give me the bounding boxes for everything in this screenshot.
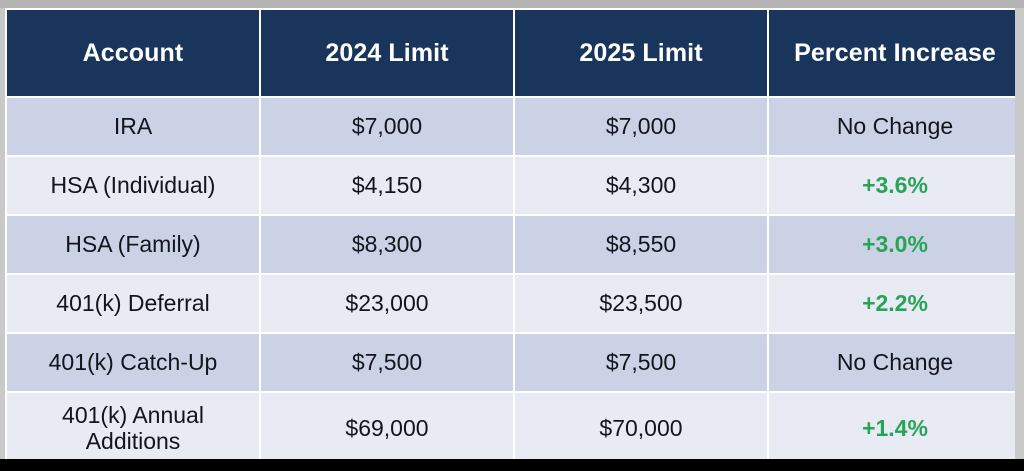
column-header-2025-limit: 2025 Limit [515, 10, 767, 96]
table-container: Account 2024 Limit 2025 Limit Percent In… [5, 8, 1015, 459]
bottom-frame-bar [0, 459, 1024, 471]
cell-2025-limit: $8,550 [515, 216, 767, 273]
cell-percent-increase: No Change [769, 98, 1015, 155]
cell-2024-limit: $4,150 [261, 157, 513, 214]
screenshot-canvas: Account 2024 Limit 2025 Limit Percent In… [0, 0, 1024, 471]
column-header-2024-limit: 2024 Limit [261, 10, 513, 96]
cell-percent-increase: +3.6% [769, 157, 1015, 214]
cell-percent-increase: +3.0% [769, 216, 1015, 273]
cell-percent-increase: +1.4% [769, 393, 1015, 459]
table-row: IRA $7,000 $7,000 No Change [7, 98, 1015, 155]
column-header-account: Account [7, 10, 259, 96]
cell-2025-limit: $70,000 [515, 393, 767, 459]
cell-account: 401(k) Annual Additions [7, 393, 259, 459]
cell-percent-increase: +2.2% [769, 275, 1015, 332]
column-header-percent-increase: Percent Increase [769, 10, 1015, 96]
cell-2024-limit: $8,300 [261, 216, 513, 273]
table-row: 401(k) Catch-Up $7,500 $7,500 No Change [7, 334, 1015, 391]
top-frame-bar [0, 0, 1024, 8]
cell-2024-limit: $69,000 [261, 393, 513, 459]
table-header-row: Account 2024 Limit 2025 Limit Percent In… [7, 10, 1015, 96]
table-row: 401(k) Annual Additions $69,000 $70,000 … [7, 393, 1015, 459]
cell-2025-limit: $7,000 [515, 98, 767, 155]
cell-account: HSA (Family) [7, 216, 259, 273]
cell-percent-increase: No Change [769, 334, 1015, 391]
cell-2025-limit: $4,300 [515, 157, 767, 214]
table-header: Account 2024 Limit 2025 Limit Percent In… [7, 10, 1015, 96]
cell-2025-limit: $7,500 [515, 334, 767, 391]
cell-2025-limit: $23,500 [515, 275, 767, 332]
cell-account: 401(k) Deferral [7, 275, 259, 332]
cell-2024-limit: $7,500 [261, 334, 513, 391]
cell-account: HSA (Individual) [7, 157, 259, 214]
table-row: 401(k) Deferral $23,000 $23,500 +2.2% [7, 275, 1015, 332]
cell-2024-limit: $23,000 [261, 275, 513, 332]
table-row: HSA (Individual) $4,150 $4,300 +3.6% [7, 157, 1015, 214]
cell-2024-limit: $7,000 [261, 98, 513, 155]
cell-account: IRA [7, 98, 259, 155]
table-row: HSA (Family) $8,300 $8,550 +3.0% [7, 216, 1015, 273]
cell-account: 401(k) Catch-Up [7, 334, 259, 391]
contribution-limits-table: Account 2024 Limit 2025 Limit Percent In… [5, 8, 1015, 459]
table-body: IRA $7,000 $7,000 No Change HSA (Individ… [7, 98, 1015, 459]
